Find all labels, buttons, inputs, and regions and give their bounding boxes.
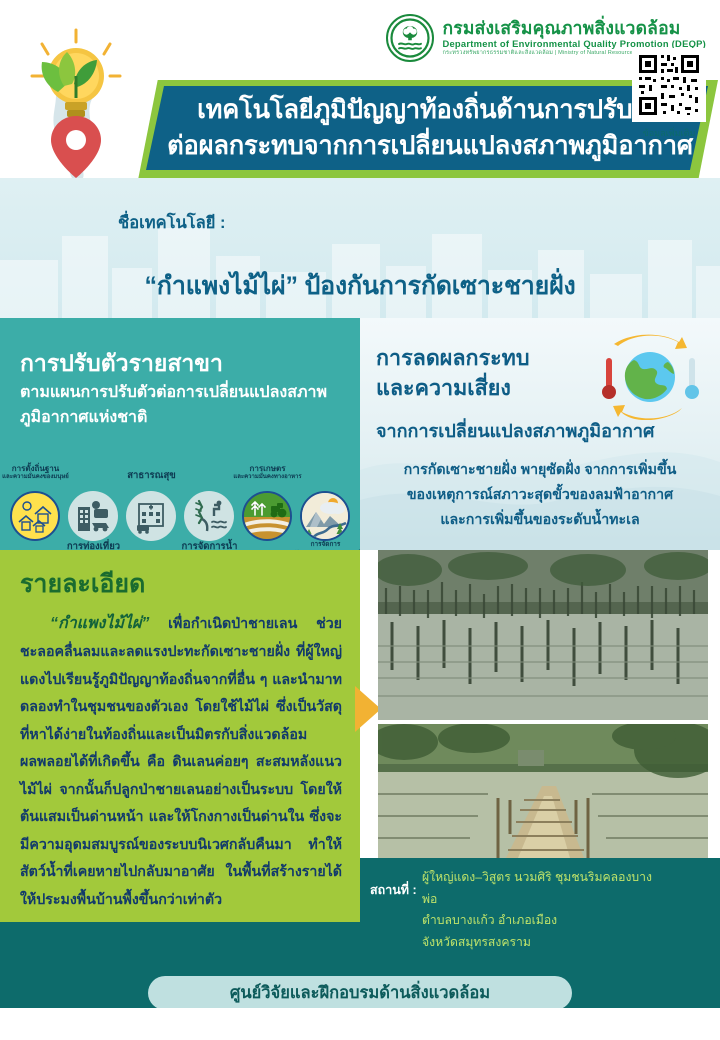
page-title: เทคโนโลยีภูมิปัญญาท้องถิ่นด้านการปรับตัว… xyxy=(160,92,700,164)
hot-thermometer xyxy=(602,358,616,399)
title-line-2: ต่อผลกระทบจากการเปลี่ยนแปลงสภาพภูมิอากาศ xyxy=(160,128,700,164)
impact-heading-line1: การลดผลกระทบ xyxy=(376,344,576,374)
public-health-hospital-icon xyxy=(126,491,176,541)
details-paragraph: เพื่อกำเนิดป่าชายเลน ช่วยชะลอคลื่นลมและล… xyxy=(20,616,342,908)
qr-code-icon[interactable] xyxy=(632,48,706,122)
sector-label-settlement-line2: และความมั่นคงของมนุษย์ xyxy=(2,474,69,481)
details-heading: รายละเอียด xyxy=(20,564,145,604)
water-management-tap-icon xyxy=(184,491,234,541)
location-lines: ผู้ใหญ่แดง–วิสูตร นวมศิริ ชุมชนริมคลองบา… xyxy=(422,867,652,954)
footer-pill: ศูนย์วิจัยและฝึกอบรมด้านสิ่งแวดล้อม xyxy=(148,976,572,1010)
sector-item-public-health[interactable]: สาธารณสุข xyxy=(124,490,179,542)
settlement-houses-icon xyxy=(10,491,60,541)
location-line-3: จังหวัดสมุทรสงคราม xyxy=(422,932,652,954)
sector-label-natural-resources-line1: การจัดการ xyxy=(311,541,341,548)
sector-label-tourism: การท่องเที่ยว xyxy=(67,542,120,550)
location-block: สถานที่ : ผู้ใหญ่แดง–วิสูตร นวมศิริ ชุมช… xyxy=(360,858,720,978)
details-body: “กำแพงไม้ไผ่” เพื่อกำเนิดป่าชายเลน ช่วยช… xyxy=(20,608,342,915)
header: กรมส่งเสริมคุณภาพสิ่งแวดล้อม Department … xyxy=(0,0,720,190)
title-ribbon: เทคโนโลยีภูมิปัญญาท้องถิ่นด้านการปรับตัว… xyxy=(138,80,718,180)
sector-label-public-health: สาธารณสุข xyxy=(127,470,175,481)
impact-body-line3: และการเพิ่มขึ้นของระดับน้ำทะเล xyxy=(368,508,712,533)
sector-item-tourism[interactable]: การท่องเที่ยว xyxy=(66,490,121,542)
impact-body-line1: การกัดเซาะชายฝั่ง พายุซัดฝั่ง จากการเพิ่… xyxy=(368,458,712,483)
footer-text: ศูนย์วิจัยและฝึกอบรมด้านสิ่งแวดล้อม xyxy=(230,980,490,1006)
deqp-tree-water-logo-icon xyxy=(386,14,434,62)
details-panel: รายละเอียด “กำแพงไม้ไผ่” เพื่อกำเนิดป่าช… xyxy=(0,550,360,922)
adaptation-subheading: ตามแผนการปรับตัวต่อการเปลี่ยนแปลงสภาพภูม… xyxy=(20,380,345,431)
location-line-2: ตำบลบางแก้ว อำเภอเมือง xyxy=(422,910,652,932)
sector-item-settlement[interactable]: การตั้งถิ่นฐาน และความมั่นคงของมนุษย์ xyxy=(8,490,63,542)
lightbulb-plant-map-illustration xyxy=(18,28,158,180)
location-label: สถานที่ : xyxy=(370,880,417,900)
technology-label: ชื่อเทคโนโลยี : xyxy=(118,210,226,236)
location-line-1: ผู้ใหญ่แดง–วิสูตร นวมศิริ ชุมชนริมคลองบา… xyxy=(422,867,652,910)
sector-icon-row: การตั้งถิ่นฐาน และความมั่นคงของมนุษย์ xyxy=(8,490,356,542)
impact-heading-line3: จากการเปลี่ยนแปลงสภาพภูมิอากาศ xyxy=(376,416,654,445)
tourism-city-car-icon xyxy=(68,491,118,541)
adaptation-heading: การปรับตัวรายสาขา xyxy=(20,346,223,382)
bamboo-walkway-photo xyxy=(378,724,708,858)
mangrove-seedlings-photo xyxy=(378,550,708,720)
sector-label-water: การจัดการน้ำ xyxy=(182,542,238,550)
impact-body: การกัดเซาะชายฝั่ง พายุซัดฝั่ง จากการเพิ่… xyxy=(368,458,712,533)
sector-label-agriculture-line1: การเกษตร xyxy=(250,464,286,473)
impact-body-line2: ของเหตุการณ์สภาวะสุดขั้วของลมฟ้าอากาศ xyxy=(368,483,712,508)
cold-thermometer xyxy=(685,358,699,399)
sector-label-settlement-line1: การตั้งถิ่นฐาน xyxy=(12,464,59,473)
details-quote: “กำแพงไม้ไผ่” xyxy=(50,615,149,632)
sector-item-water[interactable]: การจัดการน้ำ xyxy=(182,490,237,542)
title-line-1: เทคโนโลยีภูมิปัญญาท้องถิ่นด้านการปรับตัว xyxy=(160,92,700,128)
impact-reduction-panel: การลดผลกระทบ และความเสี่ยง จากการเปลี่ยน… xyxy=(360,318,720,550)
globe-thermometer-icon xyxy=(594,334,706,420)
impact-heading: การลดผลกระทบ และความเสี่ยง xyxy=(376,344,576,403)
bottom-white-strip xyxy=(0,1008,720,1040)
impact-heading-line2: และความเสี่ยง xyxy=(376,374,576,404)
poster-root: กรมส่งเสริมคุณภาพสิ่งแวดล้อม Department … xyxy=(0,0,720,1040)
technology-name-band: ชื่อเทคโนโลยี : “กำแพงไม้ไผ่” ป้องกันการ… xyxy=(0,178,720,318)
technology-name: “กำแพงไม้ไผ่” ป้องกันการกัดเซาะชายฝั่ง xyxy=(0,266,720,306)
qr-caption: ข้อมูลเพิ่มเติม xyxy=(632,126,706,140)
sector-label-agriculture-line2: และความมั่นคงทางอาหาร xyxy=(233,474,301,481)
agriculture-tractor-icon xyxy=(242,491,292,541)
org-name-thai: กรมส่งเสริมคุณภาพสิ่งแวดล้อม xyxy=(442,19,706,37)
natural-resources-mountain-icon xyxy=(300,491,350,541)
sector-item-agriculture[interactable]: การเกษตร และความมั่นคงทางอาหาร xyxy=(240,490,295,542)
adaptation-sectors-panel: การปรับตัวรายสาขา ตามแผนการปรับตัวต่อการ… xyxy=(0,318,360,550)
sector-item-natural-resources[interactable]: การจัดการ ทรัพยากรธรรมชาติ xyxy=(298,490,353,542)
